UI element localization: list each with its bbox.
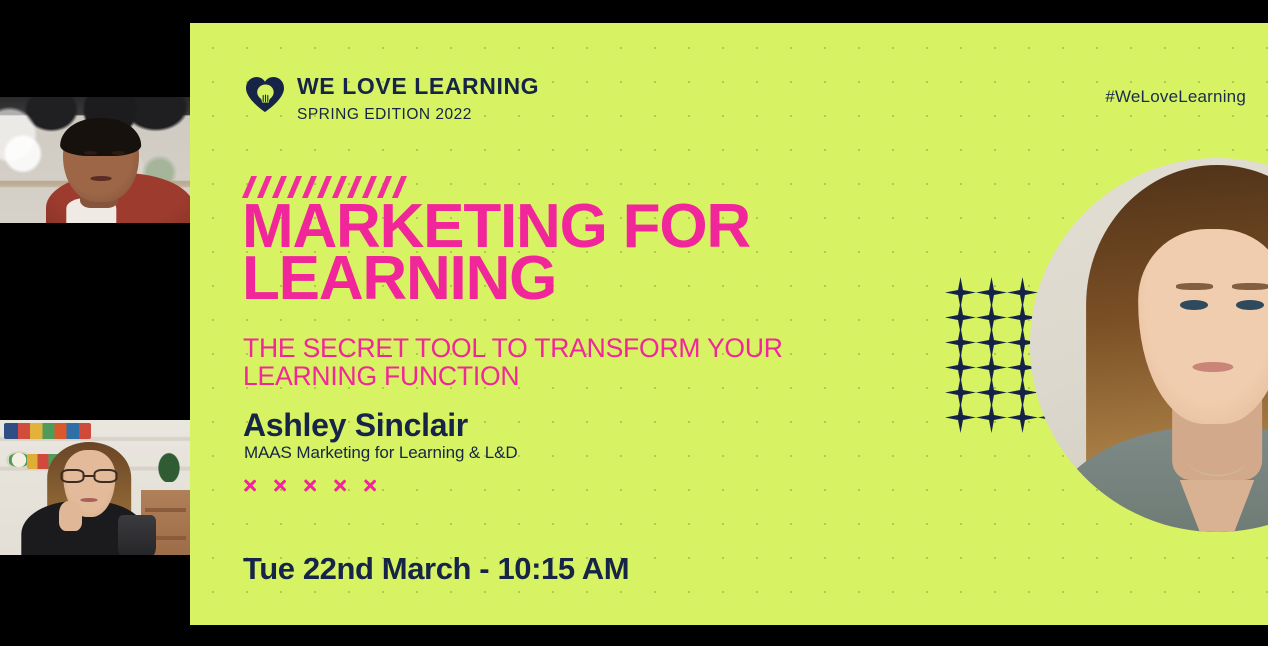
- speaker-eye-left: [1180, 300, 1208, 310]
- brand-logo-lockup: WE LOVE LEARNING SPRING EDITION 2022: [245, 75, 539, 124]
- x-icon: [272, 478, 287, 493]
- screen-share-meeting-view: WE LOVE LEARNING SPRING EDITION 2022 #We…: [0, 0, 1268, 646]
- participant-mouth: [81, 498, 98, 502]
- speaker-name: Ashley Sinclair: [243, 407, 468, 444]
- x-mark-decoration: [242, 478, 377, 493]
- slide-subtitle: THE SECRET TOOL TO TRANSFORM YOUR LEARNI…: [243, 335, 883, 391]
- speaker-eyebrow-left: [1176, 283, 1213, 289]
- x-icon: [362, 478, 377, 493]
- participant-video-1: [0, 97, 190, 223]
- microphone: [118, 515, 156, 556]
- eyeglasses-icon: [61, 469, 118, 484]
- x-icon: [302, 478, 317, 493]
- session-datetime: Tue 22nd March - 10:15 AM: [243, 551, 629, 587]
- x-icon: [242, 478, 257, 493]
- necklace: [1185, 435, 1249, 476]
- plant: [154, 447, 184, 482]
- x-icon: [332, 478, 347, 493]
- speaker-role: MAAS Marketing for Learning & L&D: [244, 443, 518, 463]
- slide-title: MARKETING FOR LEARNING: [242, 201, 882, 305]
- participant-video-tile[interactable]: [0, 97, 190, 223]
- edition-label: SPRING EDITION 2022: [297, 106, 539, 124]
- brand-name: WE LOVE LEARNING: [297, 75, 539, 98]
- bookshelf-row: [4, 423, 91, 439]
- participant-video-tile[interactable]: [0, 420, 190, 555]
- participant-video-2: [0, 420, 190, 555]
- participant-hand: [59, 501, 82, 531]
- shared-presentation-slide[interactable]: WE LOVE LEARNING SPRING EDITION 2022 #We…: [190, 23, 1268, 625]
- speaker-eye-right: [1236, 300, 1264, 310]
- event-hashtag: #WeLoveLearning: [1105, 87, 1246, 107]
- speaker-eyebrow-right: [1232, 283, 1268, 289]
- participant-filmstrip: [0, 0, 190, 646]
- heart-lightbulb-logo-icon: [245, 75, 285, 113]
